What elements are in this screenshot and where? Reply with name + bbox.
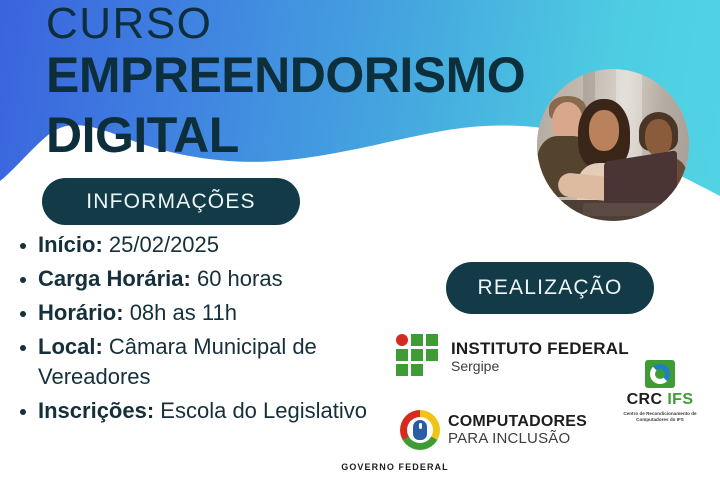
photo-person-center-head [589,110,619,151]
crc-ifs-acronym: CRC IFS [618,391,702,409]
computer-mouse-icon [413,420,427,440]
course-info-list: Início: 25/02/2025 Carga Horária: 60 hor… [16,230,368,430]
info-label: Local: [38,334,103,359]
students-photo [537,69,689,221]
computadores-line-1: COMPUTADORES [448,414,587,431]
headline-line-1: CURSO [46,2,646,46]
instituto-federal-icon [396,334,442,380]
governo-federal-wordmark: GOVERNO FEDERAL [0,462,720,472]
list-item: Local: Câmara Municipal de Vereadores [16,332,368,392]
instituto-federal-subtitle: Sergipe [451,359,629,374]
list-item: Inscrições: Escola do Legislativo [16,396,368,426]
photo-person-right-head [645,119,672,155]
ifs-text: IFS [667,391,693,408]
poster-canvas: CURSO EMPREENDORISMO DIGITAL INFORMAÇÕES… [0,0,720,480]
computadores-wordmark: COMPUTADORES PARA INCLUSÃO [448,414,587,447]
computadores-line-2: PARA INCLUSÃO [448,431,587,447]
info-value: 08h as 11h [130,300,237,325]
instituto-federal-wordmark: INSTITUTO FEDERAL Sergipe [451,340,629,374]
crc-ifs-subtitle: Centro de Recondicionamento de Computado… [618,411,702,423]
info-label: Início: [38,232,103,257]
info-value: 25/02/2025 [109,232,219,257]
computadores-para-inclusao-logo: COMPUTADORES PARA INCLUSÃO [400,410,587,450]
crc-recycle-icon [645,360,675,388]
info-value: 60 horas [197,266,283,291]
list-item: Carga Horária: 60 horas [16,264,368,294]
photo-laptop-base [583,203,662,217]
list-item: Horário: 08h as 11h [16,298,368,328]
list-item: Início: 25/02/2025 [16,230,368,260]
realizacao-pill: REALIZAÇÃO [446,262,654,314]
realizacao-pill-label: REALIZAÇÃO [477,276,622,300]
informacoes-pill-label: INFORMAÇÕES [86,190,256,214]
recycling-arrows-icon [400,410,440,450]
instituto-federal-title: INSTITUTO FEDERAL [451,340,629,358]
info-label: Inscrições: [38,398,154,423]
crc-ifs-logo: CRC IFS Centro de Recondicionamento de C… [618,360,702,423]
info-label: Horário: [38,300,124,325]
crc-text: CRC [627,391,663,408]
informacoes-pill: INFORMAÇÕES [42,178,300,225]
instituto-federal-logo: INSTITUTO FEDERAL Sergipe [396,334,629,380]
info-value: Escola do Legislativo [160,398,367,423]
info-label: Carga Horária: [38,266,191,291]
